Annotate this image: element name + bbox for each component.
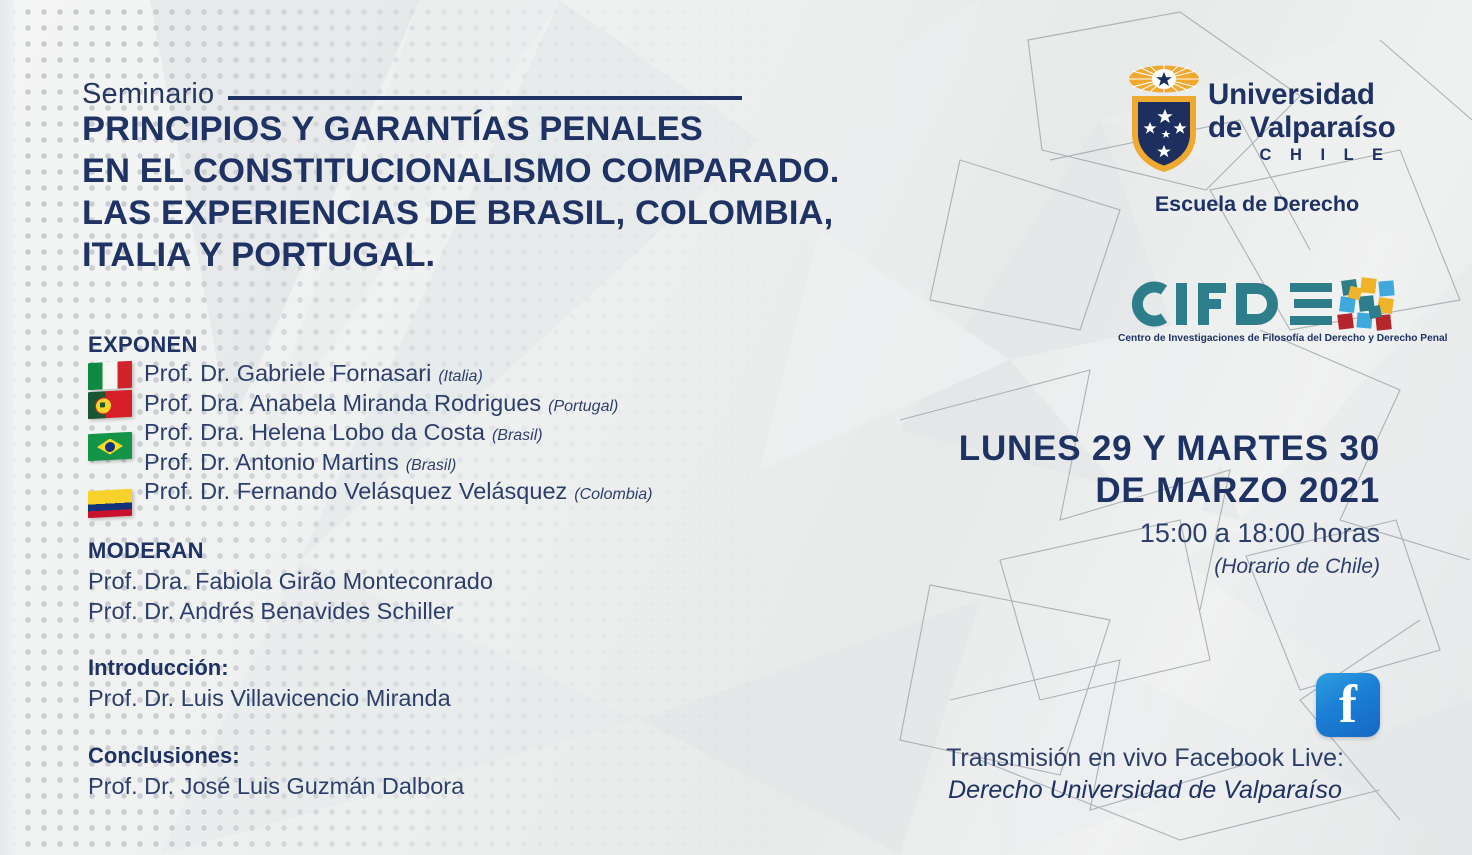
conclusions-heading: Conclusiones: [88, 740, 708, 771]
event-date-line1: LUNES 29 Y MARTES 30 [910, 428, 1380, 470]
seminar-kicker: Seminario [82, 78, 214, 111]
event-timezone: (Horario de Chile) [910, 552, 1380, 582]
speaker-country: (Colombia) [574, 486, 652, 504]
university-logo: Universidad de Valparaíso C H I L E Escu… [1126, 56, 1388, 216]
list-item: Prof. Dr. Fernando Velásquez Velásquez (… [88, 478, 808, 508]
list-item: Prof. Dra. Helena Lobo da Costa (Brasil) [88, 419, 808, 449]
speaker-name: Prof. Dr. Gabriele Fornasari [144, 360, 431, 387]
list-item: Prof. Dra. Anabela Miranda Rodrigues (Po… [88, 390, 808, 420]
cifde-subtitle: Centro de Investigaciones de Filosofía d… [1118, 333, 1398, 344]
broadcast-line1: Transmisión en vivo Facebook Live: [910, 742, 1380, 774]
introduction-heading: Introducción: [88, 652, 708, 683]
event-hours: 15:00 a 18:00 horas [910, 514, 1380, 552]
conclusions-section: Conclusiones: Prof. Dr. José Luis Guzmán… [88, 740, 708, 801]
title-line-1: PRINCIPIOS Y GARANTÍAS PENALES [82, 108, 962, 150]
conclusions-person: Prof. Dr. José Luis Guzmán Dalbora [88, 771, 708, 801]
speaker-name: Prof. Dr. Fernando Velásquez Velásquez [144, 478, 567, 505]
facebook-icon[interactable]: f [1316, 673, 1380, 737]
sunburst-icon [1129, 65, 1199, 93]
speaker-country: (Brasil) [492, 427, 543, 445]
title-line-2: EN EL CONSTITUCIONALISMO COMPARADO. [82, 150, 962, 192]
university-name-line1: Universidad [1208, 78, 1390, 111]
speaker-name: Prof. Dr. Antonio Martins [144, 449, 399, 476]
introduction-section: Introducción: Prof. Dr. Luis Villavicenc… [88, 652, 708, 713]
moderator-name: Prof. Dr. Andrés Benavides Schiller [88, 596, 708, 626]
title-line-4: ITALIA Y PORTUGAL. [82, 234, 962, 276]
seminar-poster: Seminario PRINCIPIOS Y GARANTÍAS PENALES… [0, 0, 1472, 855]
university-wordmark: Universidad de Valparaíso C H I L E [1208, 78, 1390, 165]
speaker-country: (Italia) [438, 368, 482, 386]
cifde-mosaic-icon [1337, 277, 1394, 330]
speaker-country: (Brasil) [406, 457, 457, 475]
speaker-name: Prof. Dra. Helena Lobo da Costa [144, 419, 485, 446]
university-country: C H I L E [1208, 146, 1390, 165]
left-edge-strip [0, 0, 14, 855]
speaker-country: (Portugal) [548, 398, 618, 416]
speakers-section: EXPONEN Prof. Dr. Gabriele Fornasari (It… [88, 332, 808, 508]
broadcast-line2: Derecho Universidad de Valparaíso [910, 774, 1380, 806]
list-item: Prof. Dr. Antonio Martins (Brasil) [88, 449, 808, 479]
cifde-logo: Centro de Investigaciones de Filosofía d… [1118, 276, 1398, 352]
university-name-line2: de Valparaíso [1208, 111, 1390, 144]
event-date-line2: DE MARZO 2021 [910, 470, 1380, 512]
facebook-f-glyph: f [1316, 673, 1380, 737]
page-title: PRINCIPIOS Y GARANTÍAS PENALES EN EL CON… [82, 108, 962, 276]
speaker-name: Prof. Dra. Anabela Miranda Rodrigues [144, 390, 541, 417]
event-date-block: LUNES 29 Y MARTES 30 DE MARZO 2021 15:00… [910, 428, 1380, 582]
kicker-rule [228, 96, 742, 100]
faculty-name: Escuela de Derecho [1126, 192, 1388, 217]
speakers-heading: EXPONEN [88, 332, 808, 358]
moderators-heading: MODERAN [88, 538, 708, 564]
introduction-person: Prof. Dr. Luis Villavicencio Miranda [88, 683, 708, 713]
uv-shield-icon [1126, 62, 1202, 174]
cifde-wordmark-icon [1118, 276, 1398, 332]
list-item: Prof. Dr. Gabriele Fornasari (Italia) [88, 360, 808, 390]
seminar-kicker-row: Seminario [82, 78, 742, 111]
moderator-name: Prof. Dra. Fabiola Girão Monteconrado [88, 566, 708, 596]
moderators-section: MODERAN Prof. Dra. Fabiola Girão Monteco… [88, 538, 708, 626]
title-line-3: LAS EXPERIENCIAS DE BRASIL, COLOMBIA, [82, 192, 962, 234]
broadcast-info: Transmisión en vivo Facebook Live: Derec… [910, 742, 1380, 806]
